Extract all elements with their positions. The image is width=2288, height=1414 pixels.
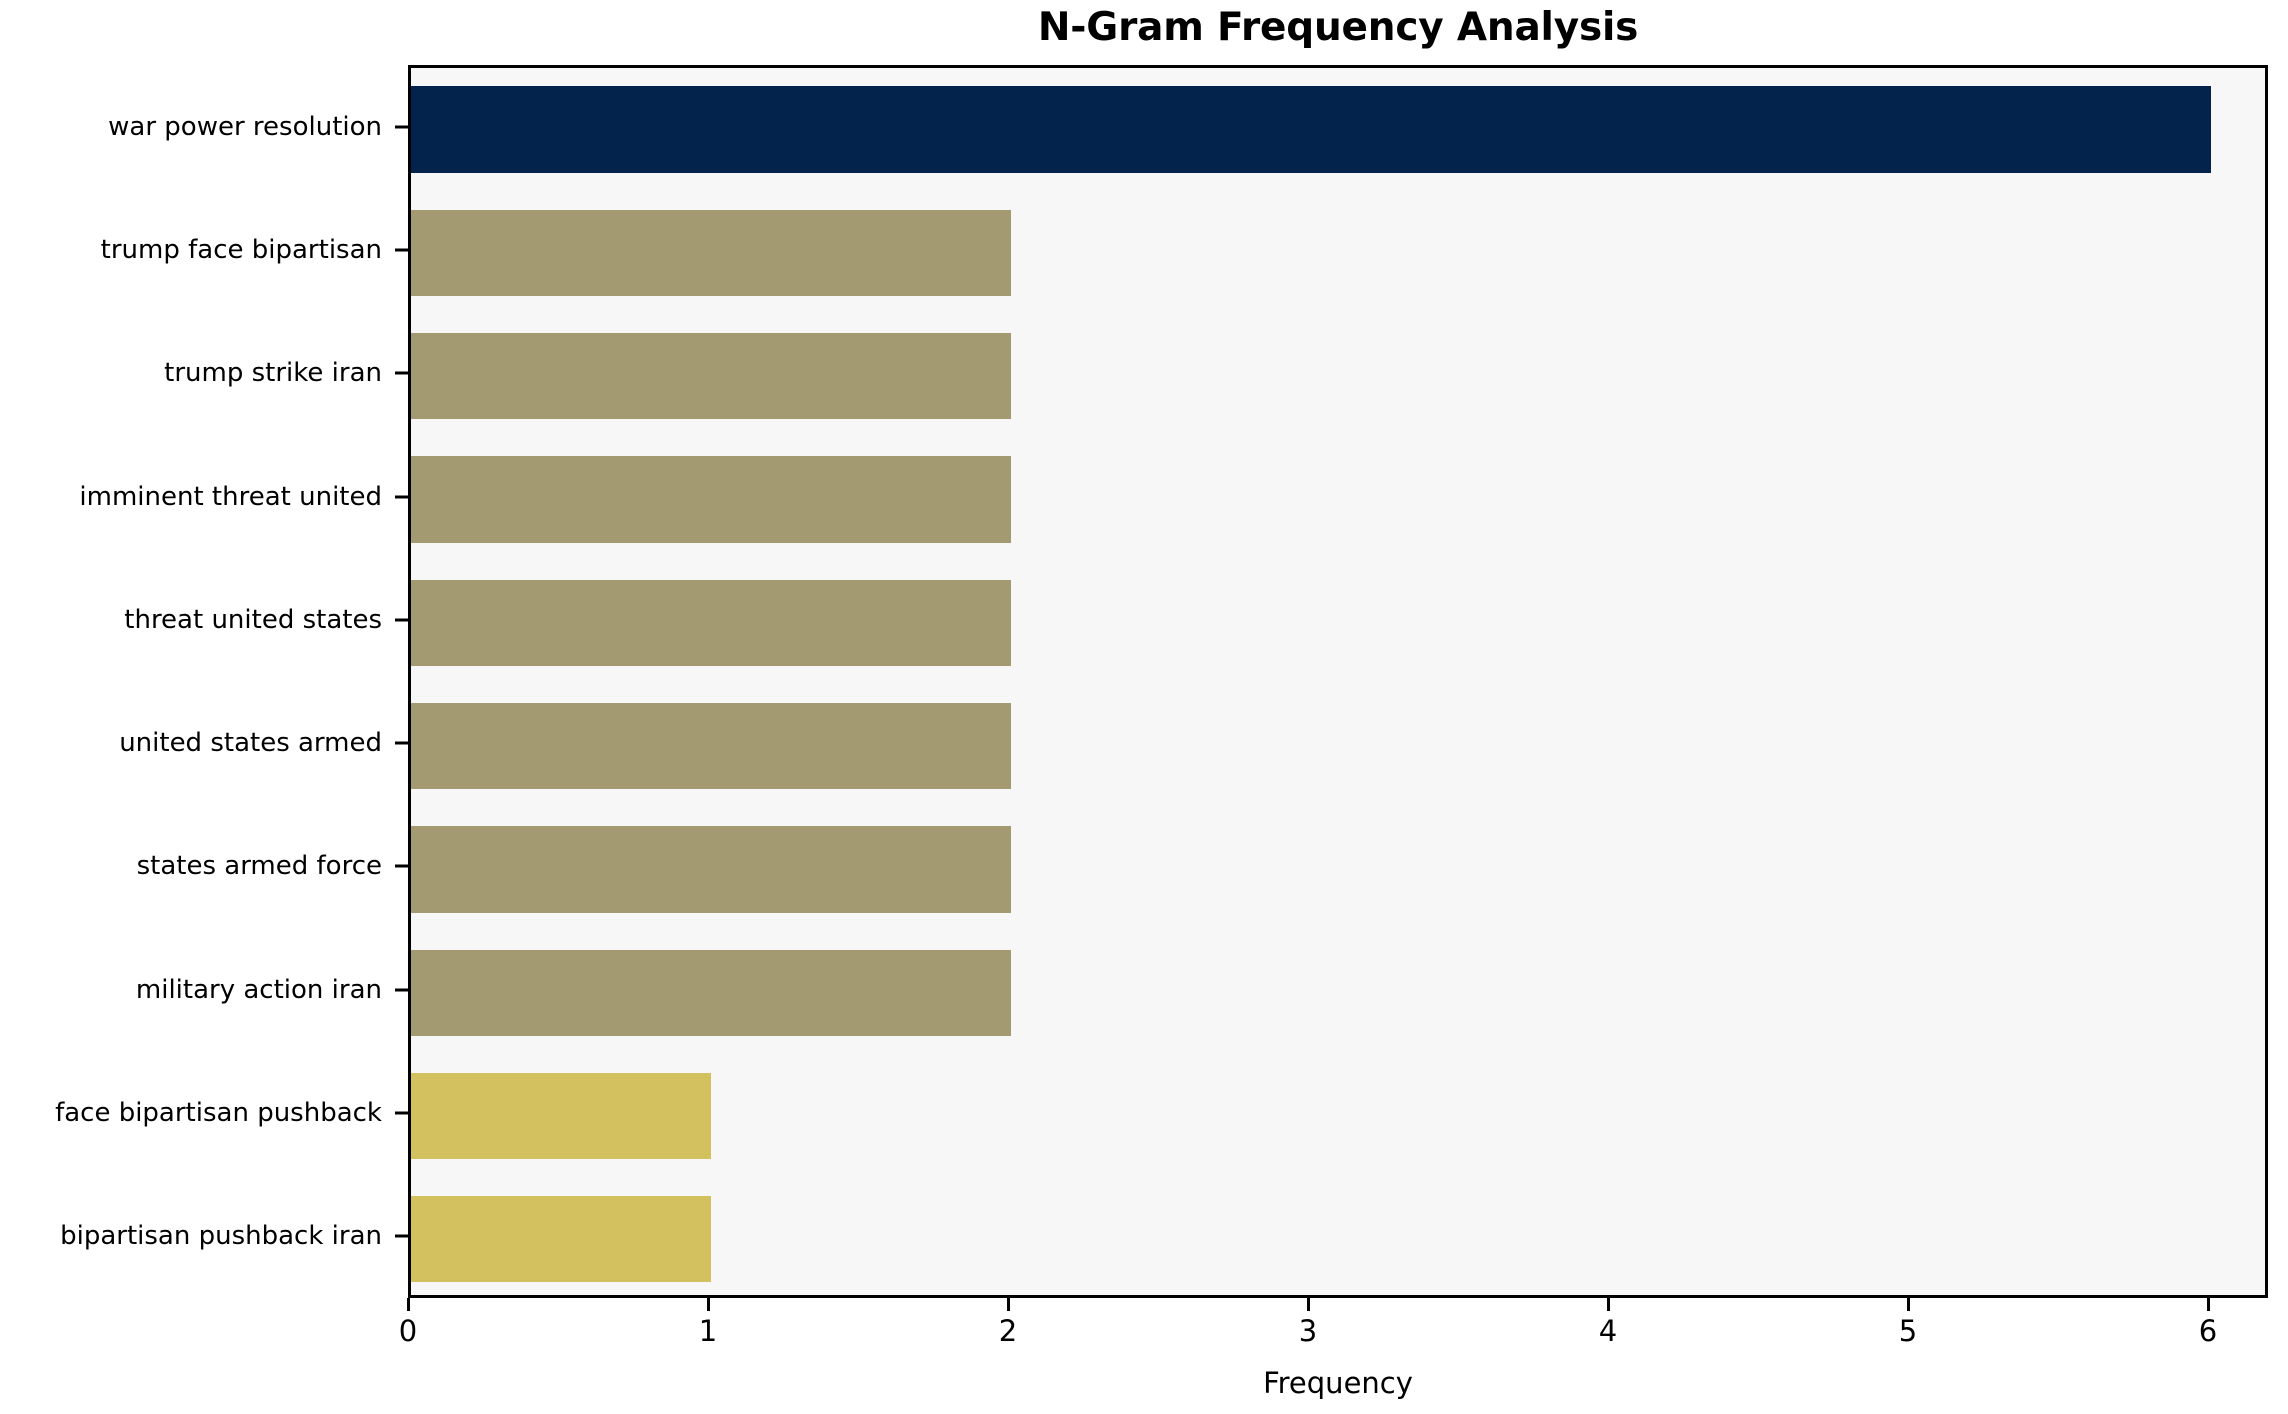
bars-layer	[411, 68, 2265, 1295]
x-axis-tick	[407, 1298, 410, 1311]
bar	[411, 1196, 711, 1282]
y-axis-tick-label: bipartisan pushback iran	[60, 1221, 382, 1251]
x-axis-tick-label: 2	[999, 1314, 1017, 1348]
x-axis-tick	[1907, 1298, 1910, 1311]
y-axis-tick-label: united states armed	[119, 728, 382, 758]
y-axis-tick-label: threat united states	[124, 605, 382, 635]
y-axis-tick	[395, 248, 408, 251]
y-axis-tick	[395, 865, 408, 868]
bar	[411, 333, 1011, 419]
x-axis-tick	[2207, 1298, 2210, 1311]
y-axis-tick-label: states armed force	[137, 851, 382, 881]
y-axis-tick	[395, 125, 408, 128]
y-axis-tick-label: trump face bipartisan	[101, 235, 382, 265]
x-axis-tick-label: 1	[699, 1314, 717, 1348]
x-axis-tick	[1607, 1298, 1610, 1311]
x-axis-tick-label: 6	[2199, 1314, 2217, 1348]
y-axis-tick	[395, 495, 408, 498]
y-axis-tick-label: trump strike iran	[164, 358, 382, 388]
x-axis-tick-label: 0	[399, 1314, 417, 1348]
y-axis-tick	[395, 372, 408, 375]
y-axis-tick	[395, 1112, 408, 1115]
x-axis-tick	[707, 1298, 710, 1311]
x-axis-tick	[1007, 1298, 1010, 1311]
y-axis-tick	[395, 988, 408, 991]
plot-area	[408, 65, 2268, 1298]
y-axis-tick-label: military action iran	[136, 975, 382, 1005]
y-axis-tick-label: face bipartisan pushback	[55, 1098, 382, 1128]
y-axis-tick	[395, 742, 408, 745]
y-axis-tick	[395, 618, 408, 621]
y-axis-tick-label: war power resolution	[108, 112, 382, 142]
bar	[411, 456, 1011, 542]
bar	[411, 86, 2211, 172]
bar	[411, 580, 1011, 666]
bar	[411, 1073, 711, 1159]
x-axis-tick	[1307, 1298, 1310, 1311]
y-axis: war power resolutiontrump face bipartisa…	[0, 0, 408, 1414]
chart-title: N-Gram Frequency Analysis	[408, 2, 2268, 54]
bar	[411, 826, 1011, 912]
x-axis-tick-label: 5	[1899, 1314, 1917, 1348]
bar	[411, 703, 1011, 789]
bar	[411, 950, 1011, 1036]
x-axis-tick-label: 4	[1599, 1314, 1617, 1348]
x-axis-title: Frequency	[408, 1366, 2268, 1400]
chart-figure: N-Gram Frequency Analysis war power reso…	[0, 0, 2288, 1414]
y-axis-tick	[395, 1235, 408, 1238]
x-axis: Frequency 0123456	[408, 1298, 2268, 1414]
bar	[411, 210, 1011, 296]
y-axis-tick-label: imminent threat united	[79, 482, 382, 512]
x-axis-tick-label: 3	[1299, 1314, 1317, 1348]
